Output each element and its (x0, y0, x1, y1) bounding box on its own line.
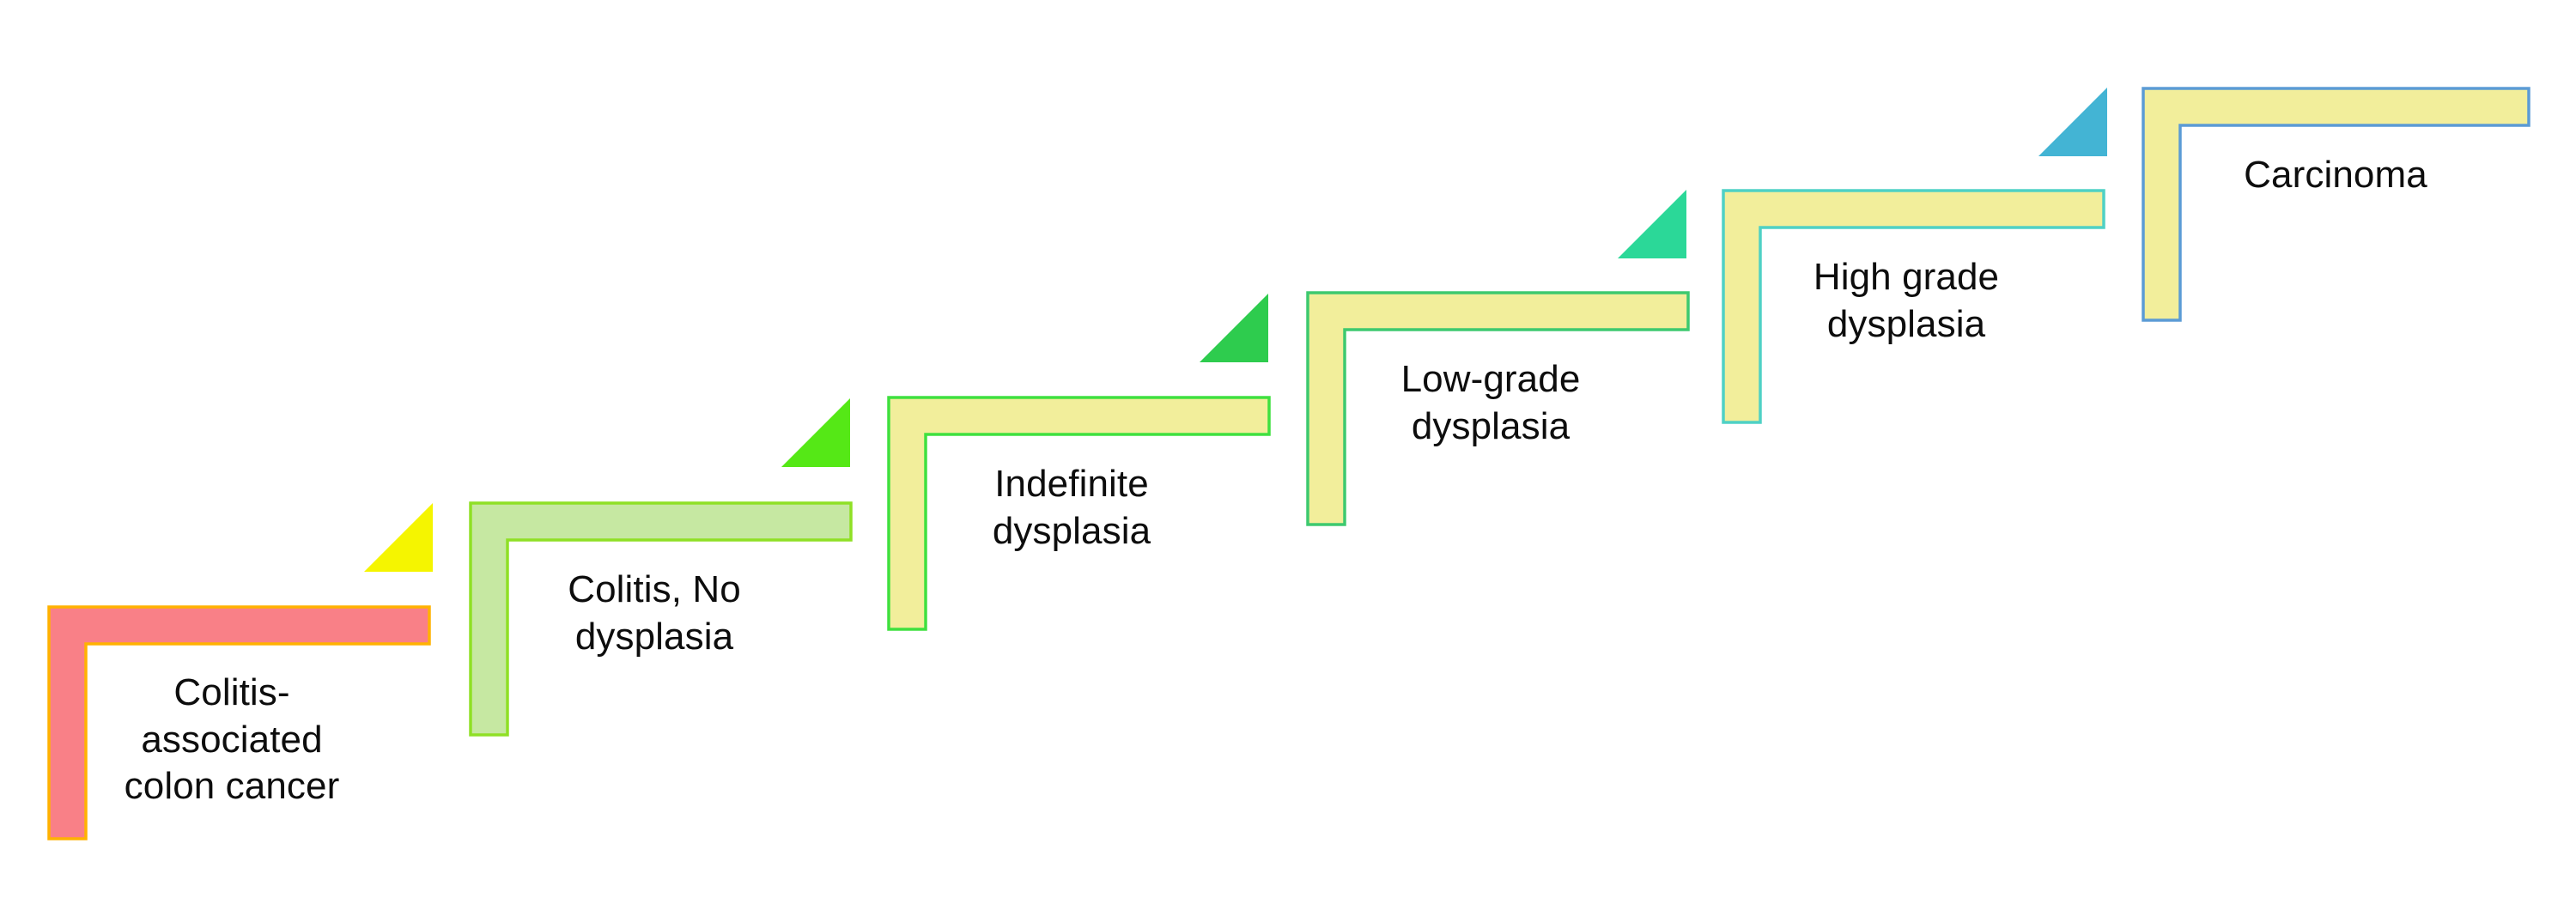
step-label-colitis-no-dysplasia: Colitis, No dysplasia (500, 567, 809, 660)
step-bracket-carcinoma[interactable] (2142, 87, 2530, 322)
step-arrow-icon-high-grade-dysplasia (2038, 88, 2107, 156)
step-label-low-grade-dysplasia: Low-grade dysplasia (1336, 356, 1645, 450)
step-label-colitis-associated-colon-cancer: Colitis- associated colon cancer (77, 670, 386, 810)
step-label-indefinite-dysplasia: Indefinite dysplasia (917, 461, 1226, 555)
diagram-canvas: Colitis- associated colon cancerColitis,… (0, 0, 2576, 910)
step-arrow-icon-indefinite-dysplasia (1200, 294, 1268, 362)
step-arrow-icon-low-grade-dysplasia (1618, 190, 1686, 258)
step-label-carcinoma: Carcinoma (2172, 152, 2499, 199)
step-label-high-grade-dysplasia: High grade dysplasia (1752, 254, 2061, 348)
step-arrow-icon-colitis-associated-colon-cancer (364, 503, 433, 572)
step-arrow-icon-colitis-no-dysplasia (781, 398, 850, 467)
